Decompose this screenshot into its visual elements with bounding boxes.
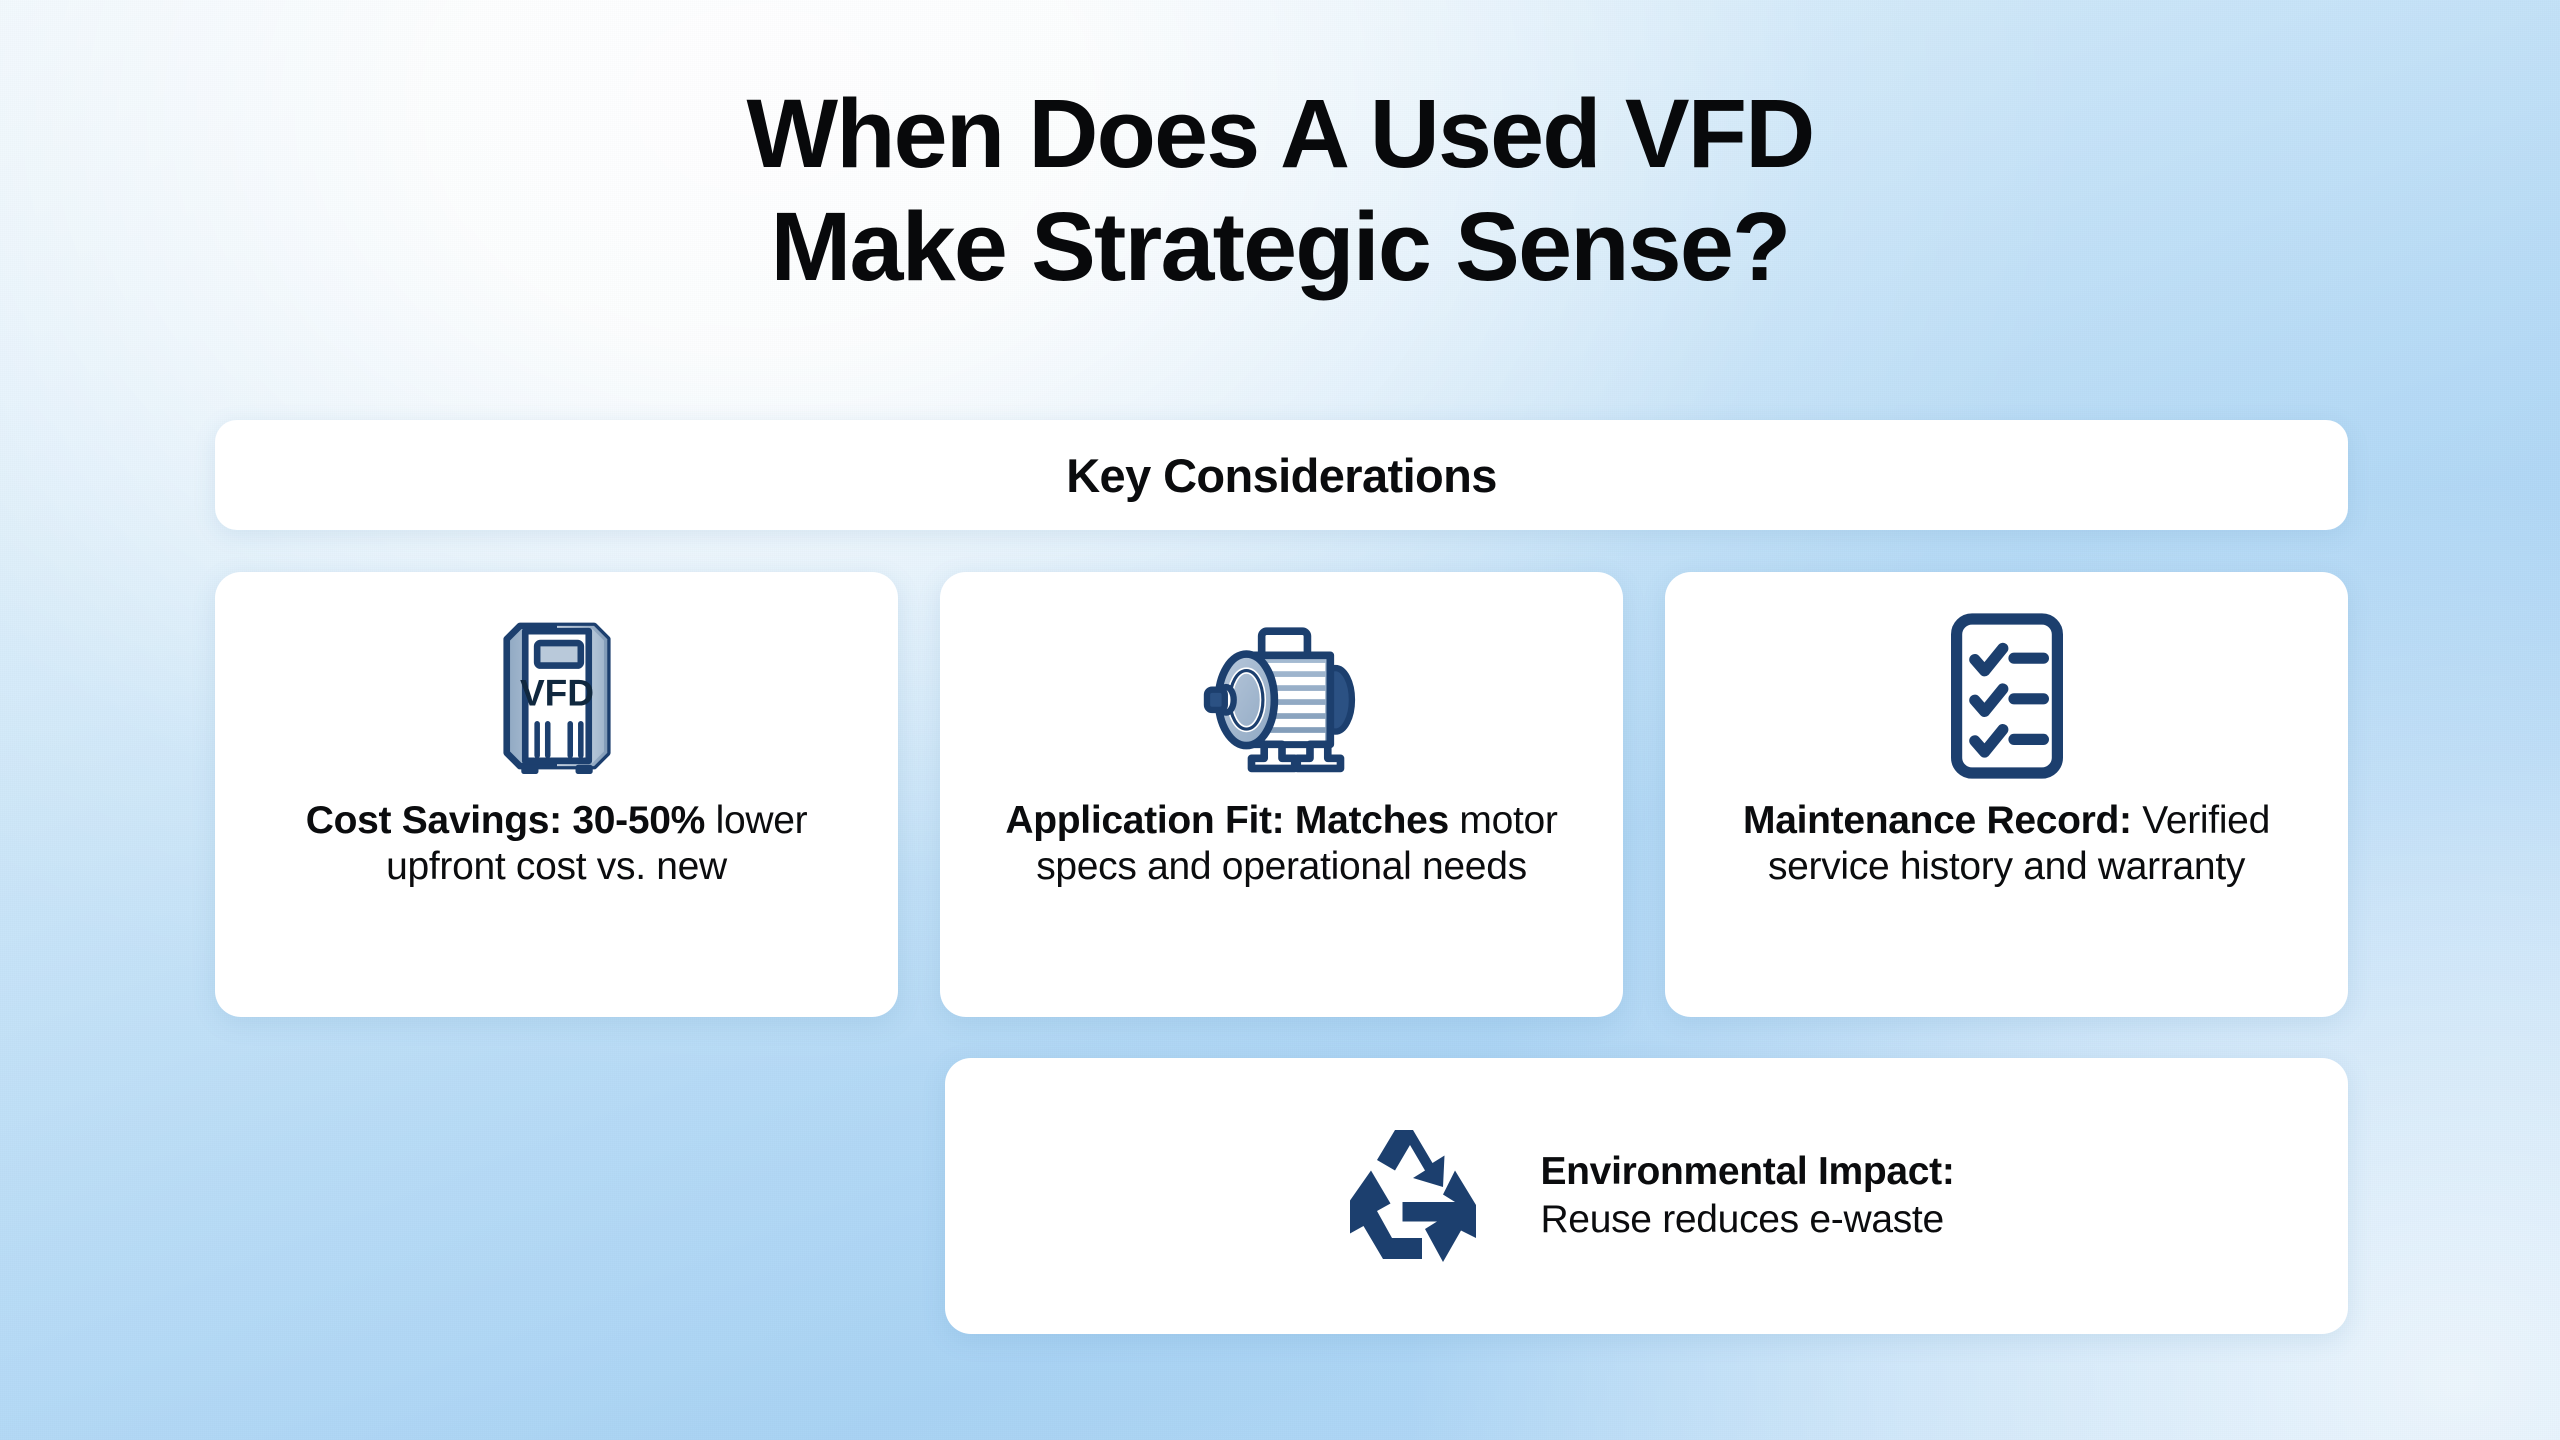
card-cost-savings: VFD Cost Savings: 30-50% lower upfront c… — [215, 572, 898, 1017]
key-considerations-banner: Key Considerations — [215, 420, 2348, 530]
recycling-icon — [1338, 1121, 1488, 1271]
page-title-line-2: Make Strategic Sense? — [0, 191, 2560, 304]
card-environmental-impact-lead: Environmental Impact: — [1540, 1148, 1954, 1196]
card-environmental-impact: Environmental Impact: Reuse reduces e-wa… — [945, 1058, 2348, 1334]
feature-card-row: VFD Cost Savings: 30-50% lower upfront c… — [215, 572, 2348, 1017]
card-cost-savings-lead: Cost Savings: 30-50% — [306, 799, 705, 842]
card-application-fit: Application Fit: Matches motor specs and… — [940, 572, 1623, 1017]
checklist-clipboard-icon — [1937, 610, 2077, 782]
vfd-drive-icon: VFD — [471, 610, 643, 782]
vfd-icon-label: VFD — [519, 671, 593, 713]
card-environmental-impact-body: Reuse reduces e-waste — [1540, 1196, 1954, 1244]
card-environmental-impact-text: Environmental Impact: Reuse reduces e-wa… — [1540, 1148, 1954, 1243]
card-maintenance-record-lead: Maintenance Record: — [1743, 799, 2132, 842]
card-maintenance-record: Maintenance Record: Verified service his… — [1665, 572, 2348, 1017]
card-cost-savings-text: Cost Savings: 30-50% lower upfront cost … — [215, 798, 898, 889]
page-title: When Does A Used VFD Make Strategic Sens… — [0, 78, 2560, 303]
card-application-fit-lead: Application Fit: Matches — [1005, 799, 1449, 842]
card-maintenance-record-text: Maintenance Record: Verified service his… — [1665, 798, 2348, 889]
electric-motor-icon — [1193, 610, 1371, 782]
page-title-line-1: When Does A Used VFD — [0, 78, 2560, 191]
banner-label: Key Considerations — [1066, 448, 1497, 503]
card-application-fit-text: Application Fit: Matches motor specs and… — [940, 798, 1623, 889]
